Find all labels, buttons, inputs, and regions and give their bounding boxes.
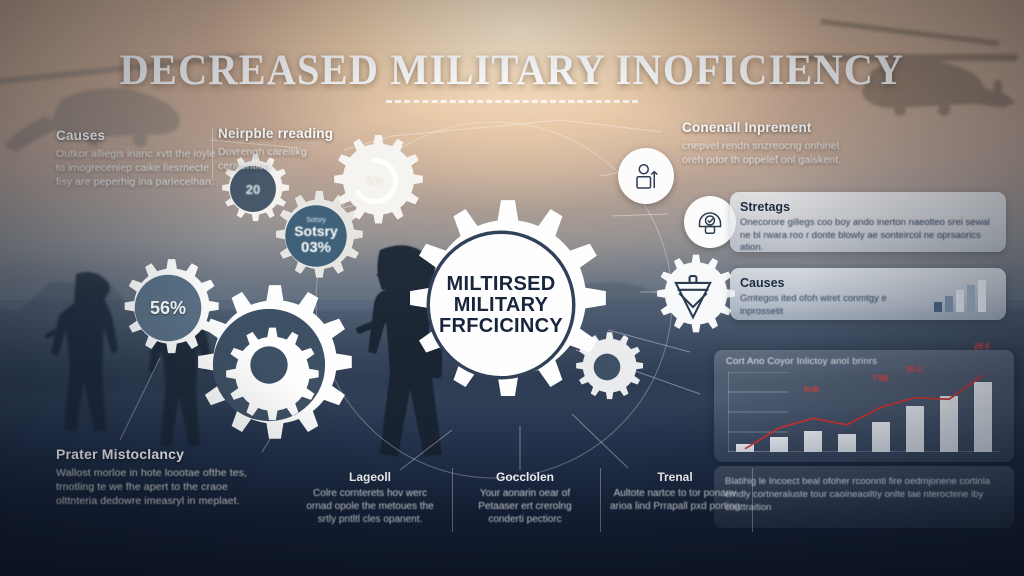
chart-data-label: 6nB — [804, 385, 819, 394]
bottom-divider-1 — [600, 468, 601, 532]
label-causes-left-body: Outkor alliegis inanc xvtt the ioyle to … — [56, 147, 220, 189]
card-strategy-heading: Stretags — [740, 200, 996, 214]
infographic-canvas: DECREASED MILITARY INOFICIENCY — [0, 0, 1024, 576]
label-reading-top-heading: Neirpble rreading — [218, 126, 338, 141]
bottom-label-0-heading: Lageoll — [300, 470, 440, 484]
chart-plot-area: 6nB7'9B95.329.6 — [728, 372, 1000, 452]
gear-shield-badge — [650, 252, 736, 338]
gear-percent-56: 56% — [116, 256, 220, 360]
chart-data-label: 29.6 — [974, 342, 990, 351]
title-divider — [386, 100, 638, 103]
gear-percent-5-value: 5% — [366, 174, 383, 188]
card-causes-body: Gmtegos ited ofoh wiret conmtgy e inpros… — [740, 293, 918, 318]
gear-percent-20-value: 20 — [246, 182, 260, 197]
helmet-check-icon-badge — [684, 196, 736, 248]
chart-trend-line — [728, 348, 1000, 454]
center-gear-line2: MILITARY — [454, 295, 549, 316]
chart-data-label: 95.3 — [906, 365, 922, 374]
label-bottom-left-heading: Prater Mistoclancy — [56, 446, 266, 462]
center-gear-line1: MILTIRSED — [447, 274, 556, 295]
person-icon — [631, 161, 661, 191]
helmet-check-icon — [695, 207, 725, 237]
bottom-label-1-body: Your aonarin oear of Petaaser ert crerol… — [460, 487, 590, 526]
bottom-label-0: Lageoll Colre cornterets hov werc ornad … — [300, 470, 440, 526]
label-improvement-right: Conenall Inprement cnepvel rendn snzreoc… — [682, 120, 842, 167]
label-causes-left: Causes Outkor alliegis inanc xvtt the io… — [56, 128, 220, 189]
bottom-label-0-body: Colre cornterets hov werc ornad opole th… — [300, 487, 440, 526]
label-reading-top: Neirpble rreading Dovrengh careilikg cer… — [218, 126, 338, 173]
label-reading-divider — [212, 128, 213, 180]
bottom-label-1-heading: Gocclolen — [460, 470, 590, 484]
label-bottom-left-body: Wallost morloe in hote loootae ofthe tes… — [56, 466, 266, 508]
label-causes-left-heading: Causes — [56, 128, 220, 143]
label-improvement-right-heading: Conenall Inprement — [682, 120, 842, 135]
bar-chart-icon — [932, 280, 992, 312]
center-gear-line3: FRFCICINCY — [439, 316, 563, 337]
page-title: DECREASED MILITARY INOFICIENCY — [31, 46, 994, 95]
gear-percent-56-value: 56% — [150, 298, 186, 319]
label-improvement-right-body: cnepvel rendn snzreocng onhinel oreh pdo… — [682, 139, 842, 167]
card-strategy: Stretags Onecorore gillegs coo boy ando … — [730, 192, 1006, 252]
bottom-label-1: Gocclolen Your aonarin oear of Petaaser … — [460, 470, 590, 526]
label-reading-top-body: Dovrengh careilikg cerivention. — [218, 145, 338, 173]
chart-data-label: 7'9B — [872, 374, 889, 383]
gear-decorative-small-right — [570, 330, 644, 404]
bottom-divider-0 — [452, 468, 453, 532]
gear-percent-03-value: 03% — [301, 239, 331, 256]
card-strategy-body: Onecorore gillegs coo boy ando inerton n… — [740, 217, 996, 255]
person-icon-badge — [618, 148, 674, 204]
chart-caption-body: Blatihig le Incoect beal ofoher rcoonnti… — [725, 475, 1003, 514]
label-bottom-left: Prater Mistoclancy Wallost morloe in hot… — [56, 446, 266, 508]
chart-caption: Blatihig le Incoect beal ofoher rcoonnti… — [714, 466, 1014, 528]
card-causes: Causes Gmtegos ited ofoh wiret conmtgy e… — [730, 268, 1006, 320]
